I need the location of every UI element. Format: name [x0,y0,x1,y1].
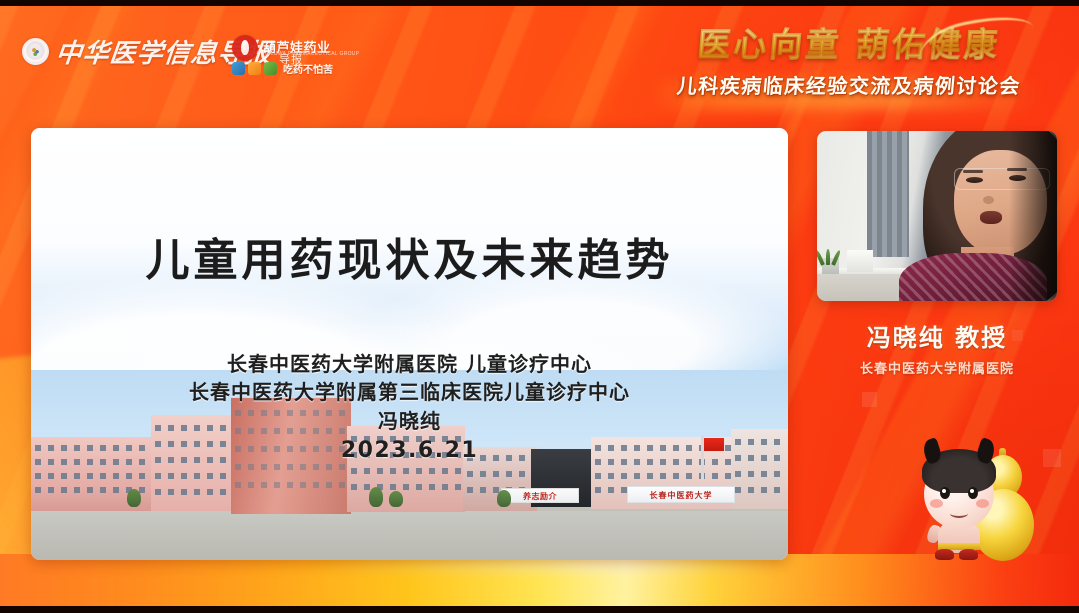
tree-icon [389,491,403,507]
sponsor-tagline: 吃药不怕苦 [283,61,333,76]
flame-drop-icon [232,35,258,61]
tree-icon [127,489,141,507]
letterbox-top [0,0,1079,6]
speaker-organization: 长春中医药大学附属医院 [817,358,1057,377]
mascot-eye [968,487,978,499]
speaker-webcam[interactable] [817,131,1057,301]
slide-line: 长春中医药大学附属第三临床医院儿童诊疗中心 [31,378,788,406]
photo-road [31,511,788,560]
mascot-cheek [976,499,989,508]
chip-blue-icon [232,62,245,75]
webcam-curtain [867,131,909,257]
speaker-nose [983,196,994,204]
calabash-boy-mascot-icon [916,441,1042,566]
slide-line: 冯晓纯 [31,407,788,435]
presentation-slide[interactable]: 养志励介 长春中医药大学 儿童用药现状及未来趋势 长春中医药大学附属医院 儿童诊… [31,128,788,560]
event-subtitle: 儿科疾病临床经验交流及病例讨论会 [648,70,1051,99]
bokeh-square [862,392,877,407]
slide-date: 2023.6.21 [31,435,788,466]
webinar-stage: 中华医学信息导报 导报 葫芦娃药业 HULUWA PHARMACEUTICAL … [0,0,1079,613]
sponsor-tagline-row: 吃药不怕苦 [232,61,333,76]
webcam-edge-shadow [1009,131,1057,301]
chip-orange-icon [248,62,261,75]
plant-icon [819,243,839,265]
mascot-shoe [959,549,978,560]
slide-body-lines: 长春中医药大学附属医院 儿童诊疗中心 长春中医药大学附属第三临床医院儿童诊疗中心… [31,350,788,466]
mascot-mouth [950,509,968,518]
bokeh-square [1043,449,1061,467]
mascot-eye [940,487,950,499]
event-title-block: 医心向童 葫佑健康 儿科疾病临床经验交流及病例讨论会 [649,18,1049,99]
cmt-seal-icon [22,38,49,65]
mascot-shoe [935,549,954,560]
speaker-mouth [980,211,1002,224]
campus-motto-sign: 养志励介 [501,488,579,503]
event-title: 医心向童 葫佑健康 [647,18,1051,66]
speaker-eye [966,177,983,183]
speaker-name: 冯晓纯 教授 [817,318,1057,353]
webcam-box-object [847,250,873,272]
tree-icon [497,490,511,507]
letterbox-bottom [0,606,1079,613]
speaker-caption: 冯晓纯 教授 长春中医药大学附属医院 [817,318,1057,377]
slide-title: 儿童用药现状及未来趋势 [31,224,788,288]
sponsor-name-en: HULUWA PHARMACEUTICAL GROUP [263,51,359,57]
mascot-cheek [930,499,943,508]
slide-line: 长春中医药大学附属医院 儿童诊疗中心 [31,350,788,378]
logo-sponsor-calabash: 葫芦娃药业 HULUWA PHARMACEUTICAL GROUP 吃药不怕苦 [232,34,332,78]
campus-university-sign: 长春中医药大学 [627,486,735,503]
tree-icon [369,487,383,507]
chip-green-icon [264,62,277,75]
speaker-eyebrow [963,170,983,173]
